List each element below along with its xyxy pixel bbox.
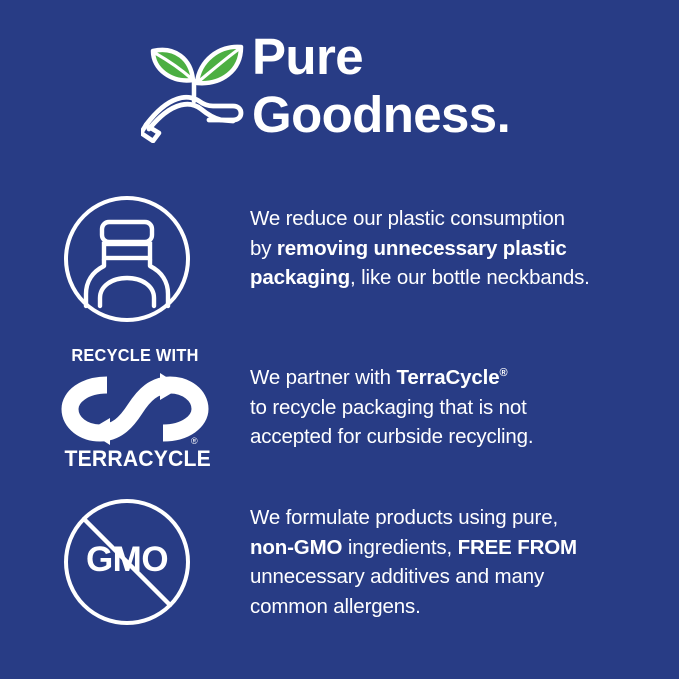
feature-line: to recycle packaging that is not	[250, 393, 670, 423]
feature-line: We partner with TerraCycle®	[250, 363, 670, 393]
feature-line: We formulate products using pure,	[250, 503, 670, 533]
feature-text-non-gmo: We formulate products using pure,non-GMO…	[250, 503, 670, 621]
page-title-line-1: Pure	[252, 28, 652, 86]
terracycle-top-text: RECYCLE WITH	[65, 345, 205, 366]
feature-row-non-gmo: GMO We formulate products using pure,non…	[0, 495, 679, 640]
pure-goodness-infographic: Pure Goodness. We reduce our plastic con…	[0, 0, 679, 679]
feature-text-plastic-reduction: We reduce our plastic consumptionby remo…	[250, 204, 670, 293]
terracycle-bottom-text: TERRACYCLE	[65, 446, 206, 472]
feature-line: accepted for curbside recycling.	[250, 422, 670, 452]
gmo-badge-label: GMO	[62, 540, 192, 580]
infinity-arrows-icon	[60, 371, 210, 447]
feature-row-terracycle: RECYCLE WITH ® TERRACYCLE We partner wit…	[0, 345, 679, 480]
feature-line: common allergens.	[250, 592, 670, 622]
feature-line: packaging, like our bottle neckbands.	[250, 263, 670, 293]
feature-line: by removing unnecessary plastic	[250, 234, 670, 264]
feature-line: non-GMO ingredients, FREE FROM	[250, 533, 670, 563]
feature-text-terracycle: We partner with TerraCycle®to recycle pa…	[250, 363, 670, 452]
page-title-line-2: Goodness.	[252, 86, 652, 144]
feature-line: unnecessary additives and many	[250, 562, 670, 592]
feature-line: We reduce our plastic consumption	[250, 204, 670, 234]
terracycle-registered-mark: ®	[191, 436, 198, 446]
feature-row-plastic-reduction: We reduce our plastic consumptionby remo…	[0, 190, 679, 330]
bottle-neckband-circle-icon	[62, 194, 192, 329]
header: Pure Goodness.	[0, 0, 679, 175]
page-title: Pure Goodness.	[252, 28, 652, 144]
no-gmo-circle-icon: GMO	[62, 497, 192, 627]
hand-holding-sprout-icon	[141, 33, 259, 143]
recycle-with-terracycle-logo: RECYCLE WITH ® TERRACYCLE	[60, 345, 210, 475]
